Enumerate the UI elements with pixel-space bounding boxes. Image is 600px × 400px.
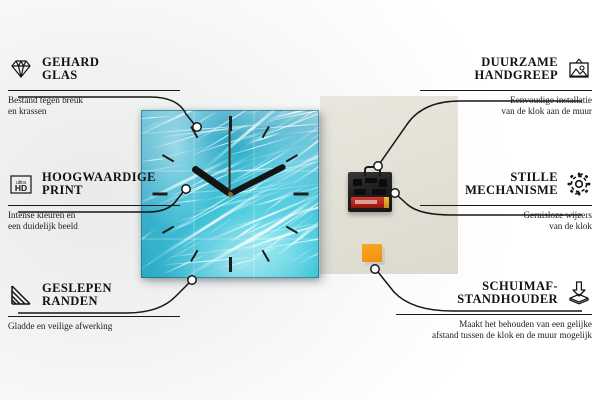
feature-divider: [8, 316, 180, 317]
feature-header: SCHUIMAF- STANDHOUDER: [396, 276, 592, 310]
product-infographic: GEHARD GLAS Bestand tegen breuk en krass…: [0, 0, 600, 400]
feature-description: Eenvoudige installatie van de klok aan d…: [420, 95, 592, 117]
feature-header: DUURZAME HANDGREEP: [420, 52, 592, 86]
feature-divider: [396, 314, 592, 315]
feature-header: ultra HD HOOGWAARDIGE PRINT: [8, 167, 180, 201]
feature-description: Maakt het behouden van een gelijke afsta…: [396, 319, 592, 341]
feature-divider: [8, 90, 180, 91]
feature-description: Bestand tegen breuk en krassen: [8, 95, 180, 117]
connector-dot-stille-mechanisme: [391, 189, 399, 197]
feature-header: GESLEPEN RANDEN: [8, 278, 180, 312]
feature-title: DUURZAME HANDGREEP: [475, 56, 558, 83]
connector-dot-hoogwaardige-print: [182, 185, 190, 193]
connector-dot-schuimafstandhouder: [371, 265, 379, 273]
feature-divider: [8, 205, 180, 206]
diagonal-lines-icon: [8, 282, 34, 308]
feature-divider: [420, 205, 592, 206]
feature-title: GESLEPEN RANDEN: [42, 282, 112, 309]
svg-text:HD: HD: [15, 183, 27, 193]
feature-duurzame-handgreep: DUURZAME HANDGREEP Eenvoudige installati…: [420, 52, 592, 117]
feature-gehard-glas: GEHARD GLAS Bestand tegen breuk en krass…: [8, 52, 180, 117]
feature-geslepen-randen: GESLEPEN RANDEN Gladde en veilige afwerk…: [8, 278, 180, 332]
feature-description: Intense kleuren en een duidelijk beeld: [8, 210, 180, 232]
feature-hoogwaardige-print: ultra HD HOOGWAARDIGE PRINT Intense kleu…: [8, 167, 180, 232]
feature-title: STILLE MECHANISME: [465, 171, 558, 198]
gear-icon: [566, 171, 592, 197]
feature-stille-mechanisme: STILLE MECHANISME Geruisloze wijzers van…: [420, 167, 592, 232]
connector-dot-gehard-glas: [193, 123, 201, 131]
press-down-icon: [566, 280, 592, 306]
feature-title: HOOGWAARDIGE PRINT: [42, 171, 156, 198]
feature-title: SCHUIMAF- STANDHOUDER: [457, 280, 558, 307]
connector-dot-duurzame-handgreep: [374, 162, 382, 170]
feature-description: Gladde en veilige afwerking: [8, 321, 180, 332]
feature-header: GEHARD GLAS: [8, 52, 180, 86]
diamond-icon: [8, 56, 34, 82]
feature-description: Geruisloze wijzers van de klok: [420, 210, 592, 232]
picture-frame-icon: [566, 56, 592, 82]
feature-schuimafstandhouder: SCHUIMAF- STANDHOUDER Maakt het behouden…: [396, 276, 592, 341]
feature-title: GEHARD GLAS: [42, 56, 99, 83]
connector-dot-geslepen-randen: [188, 276, 196, 284]
ultra-hd-icon: ultra HD: [8, 171, 34, 197]
feature-header: STILLE MECHANISME: [420, 167, 592, 201]
feature-divider: [420, 90, 592, 91]
